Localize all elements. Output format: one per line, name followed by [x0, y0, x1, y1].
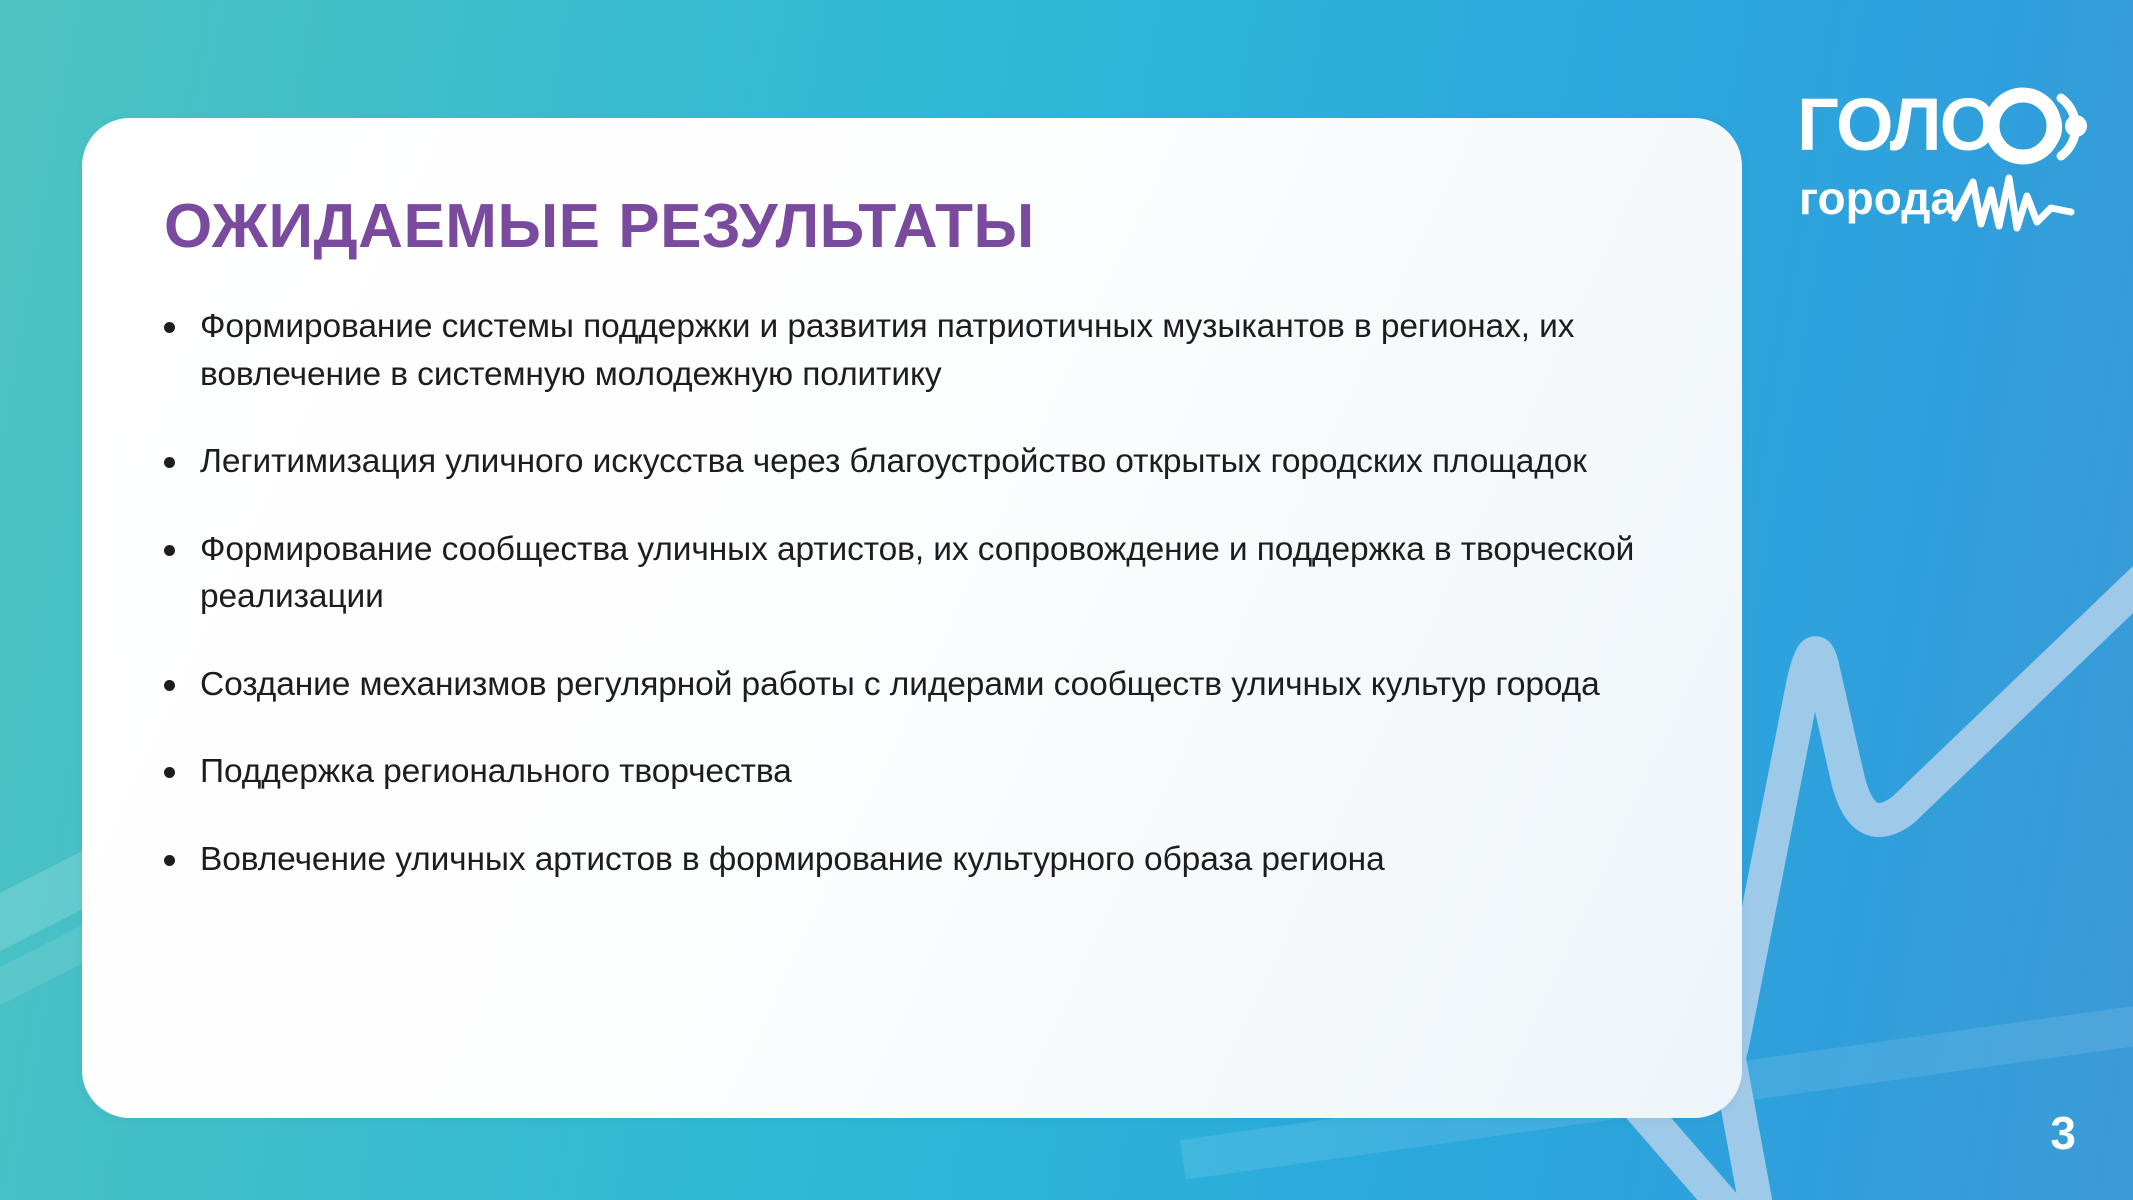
list-item: Поддержка регионального творчества — [158, 748, 1678, 796]
page-title: ОЖИДАЕМЫЕ РЕЗУЛЬТАТЫ — [164, 194, 1678, 259]
list-item: Легитимизация уличного искусства через б… — [158, 438, 1678, 486]
slide-root: ОЖИДАЕМЫЕ РЕЗУЛЬТАТЫ Формирование систем… — [0, 0, 2133, 1200]
list-item: Формирование системы поддержки и развити… — [158, 303, 1678, 398]
page-number: 3 — [2050, 1110, 2076, 1156]
list-item: Формирование сообщества уличных артистов… — [158, 526, 1678, 621]
logo-dot — [2065, 115, 2087, 137]
logo-text-primary: ГОЛО — [1797, 83, 1995, 166]
content-card: ОЖИДАЕМЫЕ РЕЗУЛЬТАТЫ Формирование систем… — [82, 118, 1742, 1118]
list-item: Вовлечение уличных артистов в формирован… — [158, 836, 1678, 884]
logo-text-secondary: города — [1799, 172, 1956, 224]
golos-goroda-logo: ГОЛО города — [1795, 78, 2095, 238]
list-item: Создание механизмов регулярной работы с … — [158, 661, 1678, 709]
results-list: Формирование системы поддержки и развити… — [158, 303, 1678, 884]
logo-waveform — [1955, 178, 2071, 228]
